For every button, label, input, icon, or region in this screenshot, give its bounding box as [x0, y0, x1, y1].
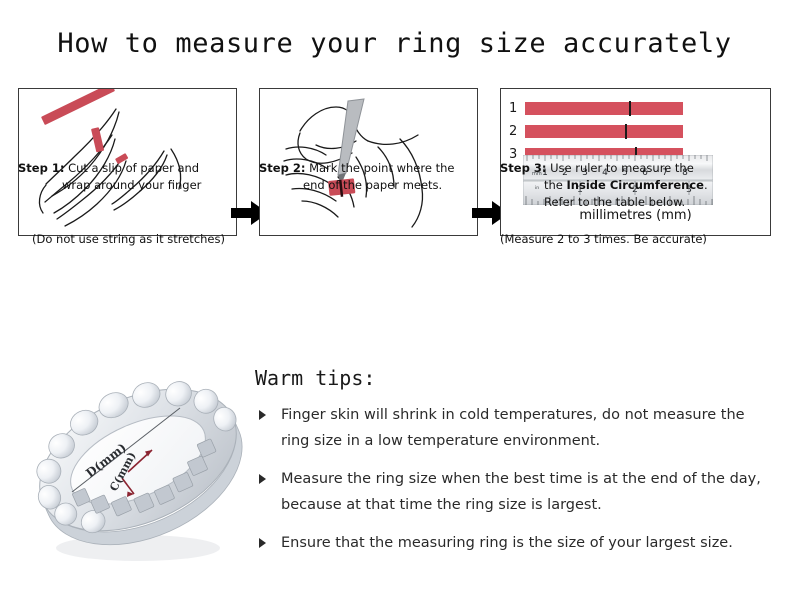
step-3-line-2-suffix: . — [704, 178, 708, 192]
step-3-line-1: Use ruler to measure the — [550, 161, 694, 175]
step-1-line-1: Cut a slip of paper and — [68, 161, 199, 175]
strip-mark — [625, 124, 627, 139]
strip-row: 2 — [509, 122, 683, 140]
strip-mark — [629, 101, 631, 116]
inside-circumference-emphasis: Inside Circumference — [567, 178, 704, 192]
triangle-bullet-icon — [259, 474, 266, 484]
ring-size-guide-page: How to measure your ring size accurately — [0, 0, 789, 606]
triangle-bullet-icon — [259, 538, 266, 548]
step-3-note: (Measure 2 to 3 times. Be accurate) — [500, 232, 707, 246]
warm-tips-heading: Warm tips: — [255, 366, 375, 390]
page-title: How to measure your ring size accurately — [0, 28, 789, 59]
step-1-note: (Do not use string as it stretches) — [32, 232, 225, 246]
strip-number: 2 — [509, 124, 525, 139]
tip-item: Measure the ring size when the best time… — [255, 466, 765, 518]
eternity-ring-illustration: D(mm) C(mm) — [22, 352, 254, 578]
step-1-line-2: wrap around your finger — [18, 177, 246, 194]
tip-text: Measure the ring size when the best time… — [281, 471, 761, 513]
tip-text: Ensure that the measuring ring is the si… — [281, 535, 733, 551]
tip-item: Finger skin will shrink in cold temperat… — [255, 402, 765, 454]
tip-item: Ensure that the measuring ring is the si… — [255, 530, 765, 556]
strip-number: 1 — [509, 101, 525, 116]
tip-text: Finger skin will shrink in cold temperat… — [281, 407, 745, 449]
step-1-label: Step 1: — [18, 161, 64, 175]
ring-diagram: D(mm) C(mm) — [22, 352, 254, 578]
step-3-caption: Step 3: Use ruler to measure the the Ins… — [500, 160, 780, 211]
paper-strip-1 — [525, 102, 683, 115]
step-3-line-2-prefix: the — [544, 178, 567, 192]
step-2-line-1: Mark the point where the — [309, 161, 454, 175]
strip-row: 1 — [509, 99, 683, 117]
step-2-caption: Step 2: Mark the point where the end of … — [259, 160, 487, 194]
triangle-bullet-icon — [259, 410, 266, 420]
step-3-line-3: Refer to the table below. — [500, 194, 780, 211]
step-1-caption: Step 1: Cut a slip of paper and wrap aro… — [18, 160, 246, 194]
step-3-label: Step 3: — [500, 161, 546, 175]
step-3-line-2: the Inside Circumference. — [500, 177, 780, 194]
paper-strip-2 — [525, 125, 683, 138]
step-2-line-2: end of the paper meets. — [259, 177, 487, 194]
warm-tips-list: Finger skin will shrink in cold temperat… — [255, 402, 765, 568]
step-2-label: Step 2: — [259, 161, 305, 175]
